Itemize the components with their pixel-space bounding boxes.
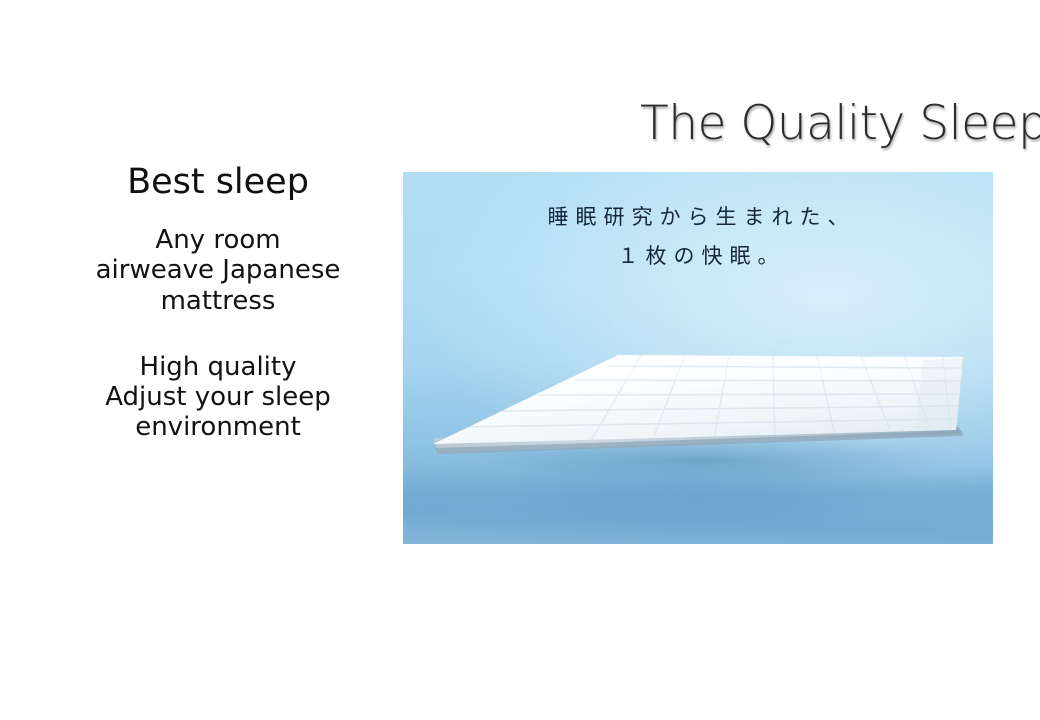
photo-japanese-copy: 睡眠研究から生まれた、 １枚の快眠。 (403, 198, 993, 276)
lead-heading: Best sleep (72, 162, 364, 203)
text-line: High quality (72, 352, 364, 382)
presentation-slide: The Quality Sleep Best sleep Any room ai… (0, 0, 1040, 720)
japanese-copy-line-2: １枚の快眠。 (403, 237, 993, 276)
japanese-copy-line-1: 睡眠研究から生まれた、 (403, 198, 993, 237)
text-block-2: High quality Adjust your sleep environme… (72, 352, 364, 442)
text-block-1: Any room airweave Japanese mattress (72, 225, 364, 315)
text-line: Any room (72, 225, 364, 255)
product-photo: 睡眠研究から生まれた、 １枚の快眠。 (403, 172, 993, 544)
left-text-column: Best sleep Any room airweave Japanese ma… (72, 162, 364, 442)
page-title: The Quality Sleep (640, 99, 1000, 150)
text-line: mattress (72, 286, 364, 316)
text-line: Adjust your sleep (72, 382, 364, 412)
photo-floor-glow (438, 468, 957, 530)
text-line: airweave Japanese (72, 255, 364, 285)
paragraph-spacer (72, 316, 364, 352)
text-line: environment (72, 412, 364, 442)
